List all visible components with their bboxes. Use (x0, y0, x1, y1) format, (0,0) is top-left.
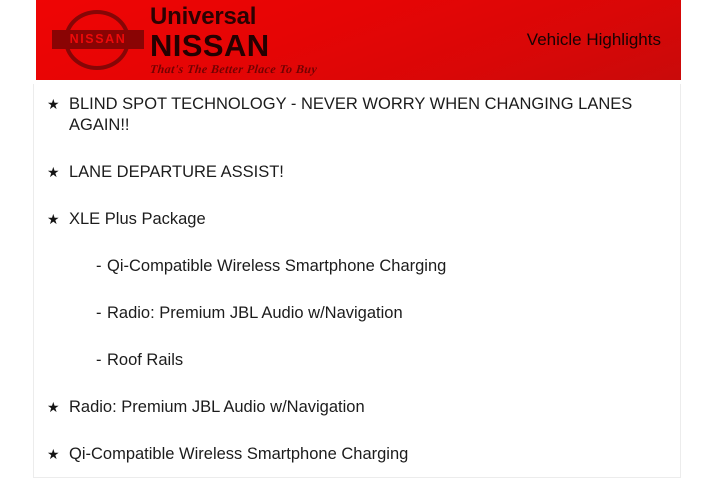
nissan-badge-icon: NISSAN (52, 8, 144, 72)
star-bullet-icon: ★ (47, 162, 69, 183)
star-bullet-icon: ★ (47, 444, 69, 465)
star-bullet-icon: ★ (47, 209, 69, 230)
dash-bullet-icon: - (96, 303, 107, 324)
dealer-header-banner: NISSAN Universal NISSAN That's The Bette… (36, 0, 681, 80)
list-item: - Roof Rails (34, 350, 680, 371)
nissan-badge-label: NISSAN (70, 33, 127, 46)
page-title: Vehicle Highlights (527, 30, 661, 50)
wordmark-nissan: NISSAN (150, 30, 317, 61)
list-item-text: Radio: Premium JBL Audio w/Navigation (69, 397, 666, 418)
list-item: - Radio: Premium JBL Audio w/Navigation (34, 303, 680, 324)
list-item: ★ XLE Plus Package (34, 209, 680, 230)
wordmark-universal: Universal (150, 5, 317, 29)
nissan-badge-bar: NISSAN (52, 30, 144, 49)
list-item-text: Roof Rails (107, 350, 666, 371)
list-item-text: Qi-Compatible Wireless Smartphone Chargi… (107, 256, 666, 277)
list-item-text: Radio: Premium JBL Audio w/Navigation (107, 303, 666, 324)
list-item: - Qi-Compatible Wireless Smartphone Char… (34, 256, 680, 277)
list-item: ★ Radio: Premium JBL Audio w/Navigation (34, 397, 680, 418)
highlights-list: ★ BLIND SPOT TECHNOLOGY - NEVER WORRY WH… (33, 84, 681, 478)
star-bullet-icon: ★ (47, 397, 69, 418)
star-bullet-icon: ★ (47, 94, 69, 115)
dealer-wordmark: Universal NISSAN That's The Better Place… (150, 5, 317, 75)
list-item-text: LANE DEPARTURE ASSIST! (69, 162, 666, 183)
list-item: ★ LANE DEPARTURE ASSIST! (34, 162, 680, 183)
dash-bullet-icon: - (96, 350, 107, 371)
list-item-text: Qi-Compatible Wireless Smartphone Chargi… (69, 444, 666, 465)
dash-bullet-icon: - (96, 256, 107, 277)
list-item: ★ BLIND SPOT TECHNOLOGY - NEVER WORRY WH… (34, 94, 680, 136)
vehicle-highlights-page: NISSAN Universal NISSAN That's The Bette… (0, 0, 720, 480)
dealer-logo: NISSAN Universal NISSAN That's The Bette… (52, 4, 317, 76)
dealer-tagline: That's The Better Place To Buy (149, 63, 317, 75)
list-item-text: BLIND SPOT TECHNOLOGY - NEVER WORRY WHEN… (69, 94, 666, 136)
list-item-text: XLE Plus Package (69, 209, 666, 230)
list-item: ★ Qi-Compatible Wireless Smartphone Char… (34, 444, 680, 465)
